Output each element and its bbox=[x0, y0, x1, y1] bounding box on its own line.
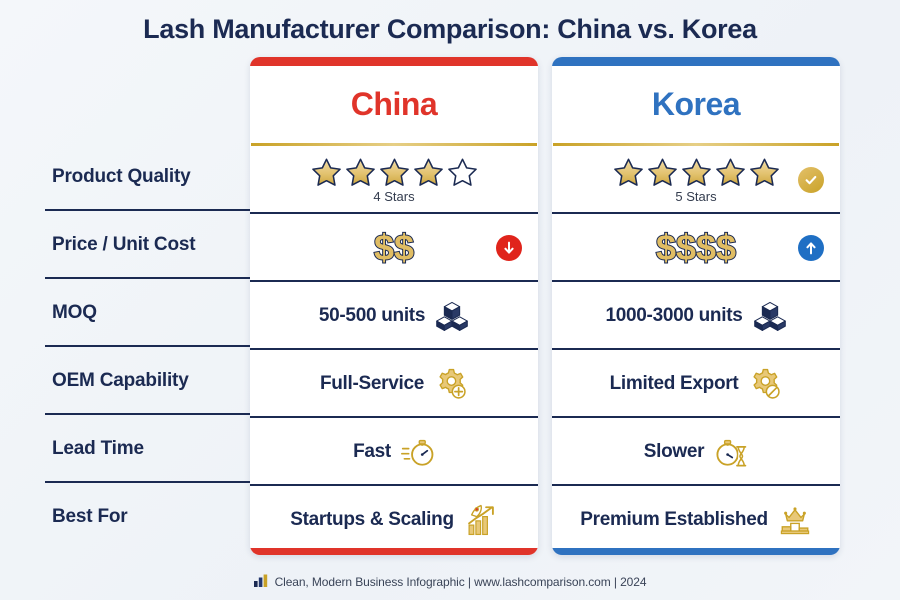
cell-china-lead-time: Fast bbox=[250, 418, 538, 486]
bar-chart-icon bbox=[254, 574, 268, 590]
star-filled-icon bbox=[413, 157, 444, 188]
dollar-sign-icon: $ bbox=[394, 230, 414, 266]
row-label-text: Product Quality bbox=[52, 166, 190, 188]
cell-china-oem: Full-Service bbox=[250, 350, 538, 418]
star-filled-icon bbox=[749, 157, 780, 188]
card-accent-bar-bottom bbox=[250, 548, 538, 555]
row-label-best-for: Best For bbox=[0, 483, 250, 551]
cell-china-product-quality: 4 Stars bbox=[250, 146, 538, 214]
star-filled-icon bbox=[715, 157, 746, 188]
card-title: Korea bbox=[652, 86, 740, 123]
cell-value: Slower bbox=[644, 441, 705, 463]
row-label-product-quality: Product Quality bbox=[0, 143, 250, 211]
cell-korea-price: $$$$ bbox=[552, 214, 840, 282]
cell-korea-oem: Limited Export bbox=[552, 350, 840, 418]
price-dollars-korea: $$$$ bbox=[656, 230, 736, 266]
dollar-sign-icon: $ bbox=[716, 230, 736, 266]
price-dollars-china: $$ bbox=[374, 230, 414, 266]
stopwatch-hourglass-icon bbox=[714, 435, 748, 469]
footer-text: Clean, Modern Business Infographic | www… bbox=[275, 575, 647, 589]
infographic-page: Lash Manufacturer Comparison: China vs. … bbox=[0, 0, 900, 600]
row-label-text: Lead Time bbox=[52, 438, 144, 460]
cell-value: Fast bbox=[353, 441, 391, 463]
check-circle-icon bbox=[798, 167, 824, 193]
star-filled-icon bbox=[613, 157, 644, 188]
cell-china-moq: 50-500 units bbox=[250, 282, 538, 350]
cell-value: Full-Service bbox=[320, 373, 424, 395]
row-label-text: Price / Unit Cost bbox=[52, 234, 195, 256]
arrow-down-icon bbox=[496, 235, 522, 261]
dollar-sign-icon: $ bbox=[374, 230, 394, 266]
row-label-text: Best For bbox=[52, 506, 127, 528]
row-label-column: Product Quality Price / Unit Cost MOQ OE… bbox=[0, 143, 250, 555]
cell-china-price: $$ bbox=[250, 214, 538, 282]
arrow-up-icon bbox=[798, 235, 824, 261]
star-rating-caption: 5 Stars bbox=[675, 189, 716, 204]
card-accent-bar-top bbox=[552, 57, 840, 66]
row-label-lead-time: Lead Time bbox=[0, 415, 250, 483]
card-header-china: China bbox=[250, 66, 538, 143]
boxes-icon bbox=[435, 299, 469, 333]
cell-korea-product-quality: 5 Stars bbox=[552, 146, 840, 214]
stopwatch-fast-icon bbox=[401, 435, 435, 469]
cell-china-best-for: Startups & Scaling bbox=[250, 486, 538, 554]
star-rating-china bbox=[311, 157, 478, 188]
boxes-icon bbox=[753, 299, 787, 333]
cell-korea-lead-time: Slower bbox=[552, 418, 840, 486]
gear-plus-icon bbox=[434, 367, 468, 401]
star-filled-icon bbox=[681, 157, 712, 188]
cell-korea-moq: 1000-3000 units bbox=[552, 282, 840, 350]
star-filled-icon bbox=[345, 157, 376, 188]
row-label-price: Price / Unit Cost bbox=[0, 211, 250, 279]
dollar-sign-icon: $ bbox=[676, 230, 696, 266]
cell-value: Startups & Scaling bbox=[290, 509, 454, 531]
page-title: Lash Manufacturer Comparison: China vs. … bbox=[0, 14, 900, 45]
cell-value: Premium Established bbox=[580, 509, 768, 531]
dollar-sign-icon: $ bbox=[656, 230, 676, 266]
cell-value: 1000-3000 units bbox=[605, 305, 742, 327]
star-rating-caption: 4 Stars bbox=[373, 189, 414, 204]
star-rating-korea bbox=[613, 157, 780, 188]
crown-podium-icon bbox=[778, 503, 812, 537]
card-title: China bbox=[351, 86, 437, 123]
star-empty-icon bbox=[447, 157, 478, 188]
row-label-text: MOQ bbox=[52, 302, 97, 324]
star-filled-icon bbox=[379, 157, 410, 188]
row-label-moq: MOQ bbox=[0, 279, 250, 347]
cell-korea-best-for: Premium Established bbox=[552, 486, 840, 554]
star-filled-icon bbox=[647, 157, 678, 188]
comparison-card-china[interactable]: China 4 Stars $$ 50-500 units bbox=[250, 57, 538, 555]
card-header-korea: Korea bbox=[552, 66, 840, 143]
dollar-sign-icon: $ bbox=[696, 230, 716, 266]
gear-blocked-icon bbox=[748, 367, 782, 401]
row-label-oem: OEM Capability bbox=[0, 347, 250, 415]
cell-value: Limited Export bbox=[610, 373, 739, 395]
footer: Clean, Modern Business Infographic | www… bbox=[0, 574, 900, 590]
card-accent-bar-top bbox=[250, 57, 538, 66]
row-label-text: OEM Capability bbox=[52, 370, 189, 392]
star-filled-icon bbox=[311, 157, 342, 188]
rocket-growth-icon bbox=[464, 503, 498, 537]
comparison-card-korea[interactable]: Korea 5 Stars $$$$ 1000-3000 units bbox=[552, 57, 840, 555]
cell-value: 50-500 units bbox=[319, 305, 425, 327]
card-accent-bar-bottom bbox=[552, 548, 840, 555]
